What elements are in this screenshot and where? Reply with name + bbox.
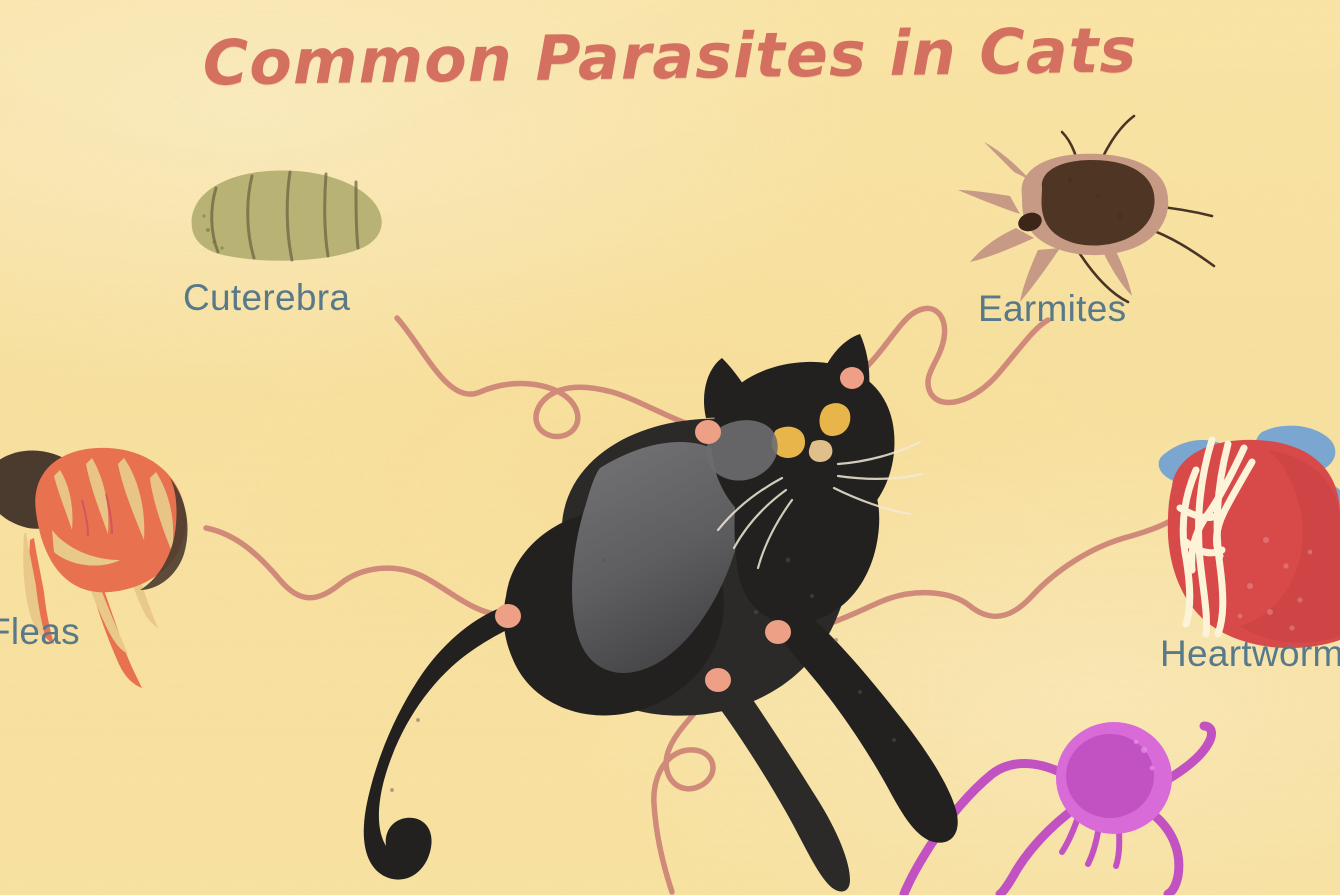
connector-dot-hip[interactable] — [495, 604, 521, 628]
connector-dot-shoulder[interactable] — [695, 420, 721, 444]
connector-dots — [0, 0, 1340, 895]
label-heartworm: Heartworm — [1160, 633, 1340, 675]
connector-dot-chest[interactable] — [765, 620, 791, 644]
label-earmites: Earmites — [978, 288, 1126, 330]
label-cuterebra: Cuterebra — [183, 277, 350, 319]
connector-dot-ear[interactable] — [840, 367, 864, 389]
connector-dot-belly[interactable] — [705, 668, 731, 692]
infographic-canvas: Common Parasites in Cats Cuterebra Earmi… — [0, 0, 1340, 895]
label-fleas: Fleas — [0, 611, 80, 653]
